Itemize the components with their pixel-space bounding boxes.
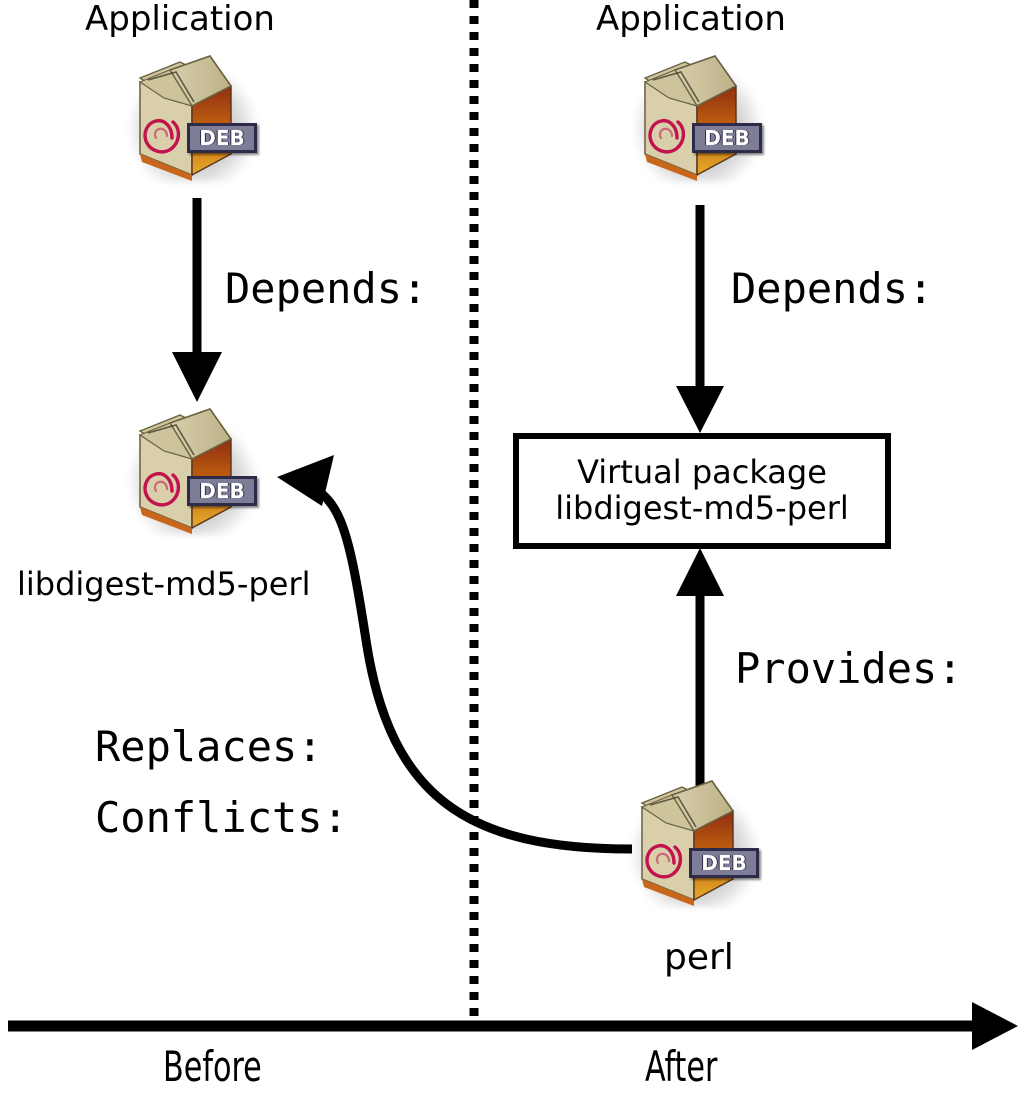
deb-badge-text: DEB	[701, 853, 747, 873]
debian-package-box	[645, 56, 736, 181]
timeline-axis	[8, 1002, 1018, 1050]
debian-package-box	[140, 409, 231, 534]
virtual-package-line-1: Virtual package	[577, 455, 827, 491]
before-package-label: libdigest-md5-perl	[17, 568, 311, 600]
before-depends-label: Depends:	[225, 268, 427, 310]
deb-badge-text: DEB	[704, 128, 750, 148]
after-application-package-icon: DEB	[623, 50, 773, 190]
replaces-label: Replaces:	[95, 726, 323, 768]
deb-badge: DEB	[187, 123, 257, 153]
debian-package-box	[140, 56, 231, 181]
before-libdigest-package-icon: DEB	[118, 403, 268, 543]
provides-label: Provides:	[735, 648, 963, 690]
virtual-package-line-2: libdigest-md5-perl	[555, 491, 849, 527]
after-application-label: Application	[596, 2, 786, 36]
deb-badge-text: DEB	[199, 128, 245, 148]
deb-badge-text: DEB	[199, 481, 245, 501]
deb-badge: DEB	[187, 476, 257, 506]
before-application-package-icon: DEB	[118, 50, 268, 190]
conflicts-label: Conflicts:	[95, 797, 348, 839]
before-application-label: Application	[85, 2, 275, 36]
deb-badge: DEB	[689, 848, 759, 878]
virtual-package-box: Virtual package libdigest-md5-perl	[513, 433, 891, 549]
depends-arrow-after	[676, 205, 724, 433]
depends-arrow-before	[172, 198, 222, 402]
after-depends-label: Depends:	[731, 268, 933, 310]
timeline-before-label: Before	[163, 1046, 262, 1088]
after-perl-label: perl	[664, 940, 734, 976]
timeline-after-label: After	[645, 1046, 717, 1088]
provides-arrow	[676, 548, 724, 790]
debian-package-box	[642, 781, 733, 906]
diagram-root: Application	[0, 0, 1024, 1094]
deb-badge: DEB	[692, 123, 762, 153]
after-perl-package-icon: DEB	[620, 775, 770, 915]
